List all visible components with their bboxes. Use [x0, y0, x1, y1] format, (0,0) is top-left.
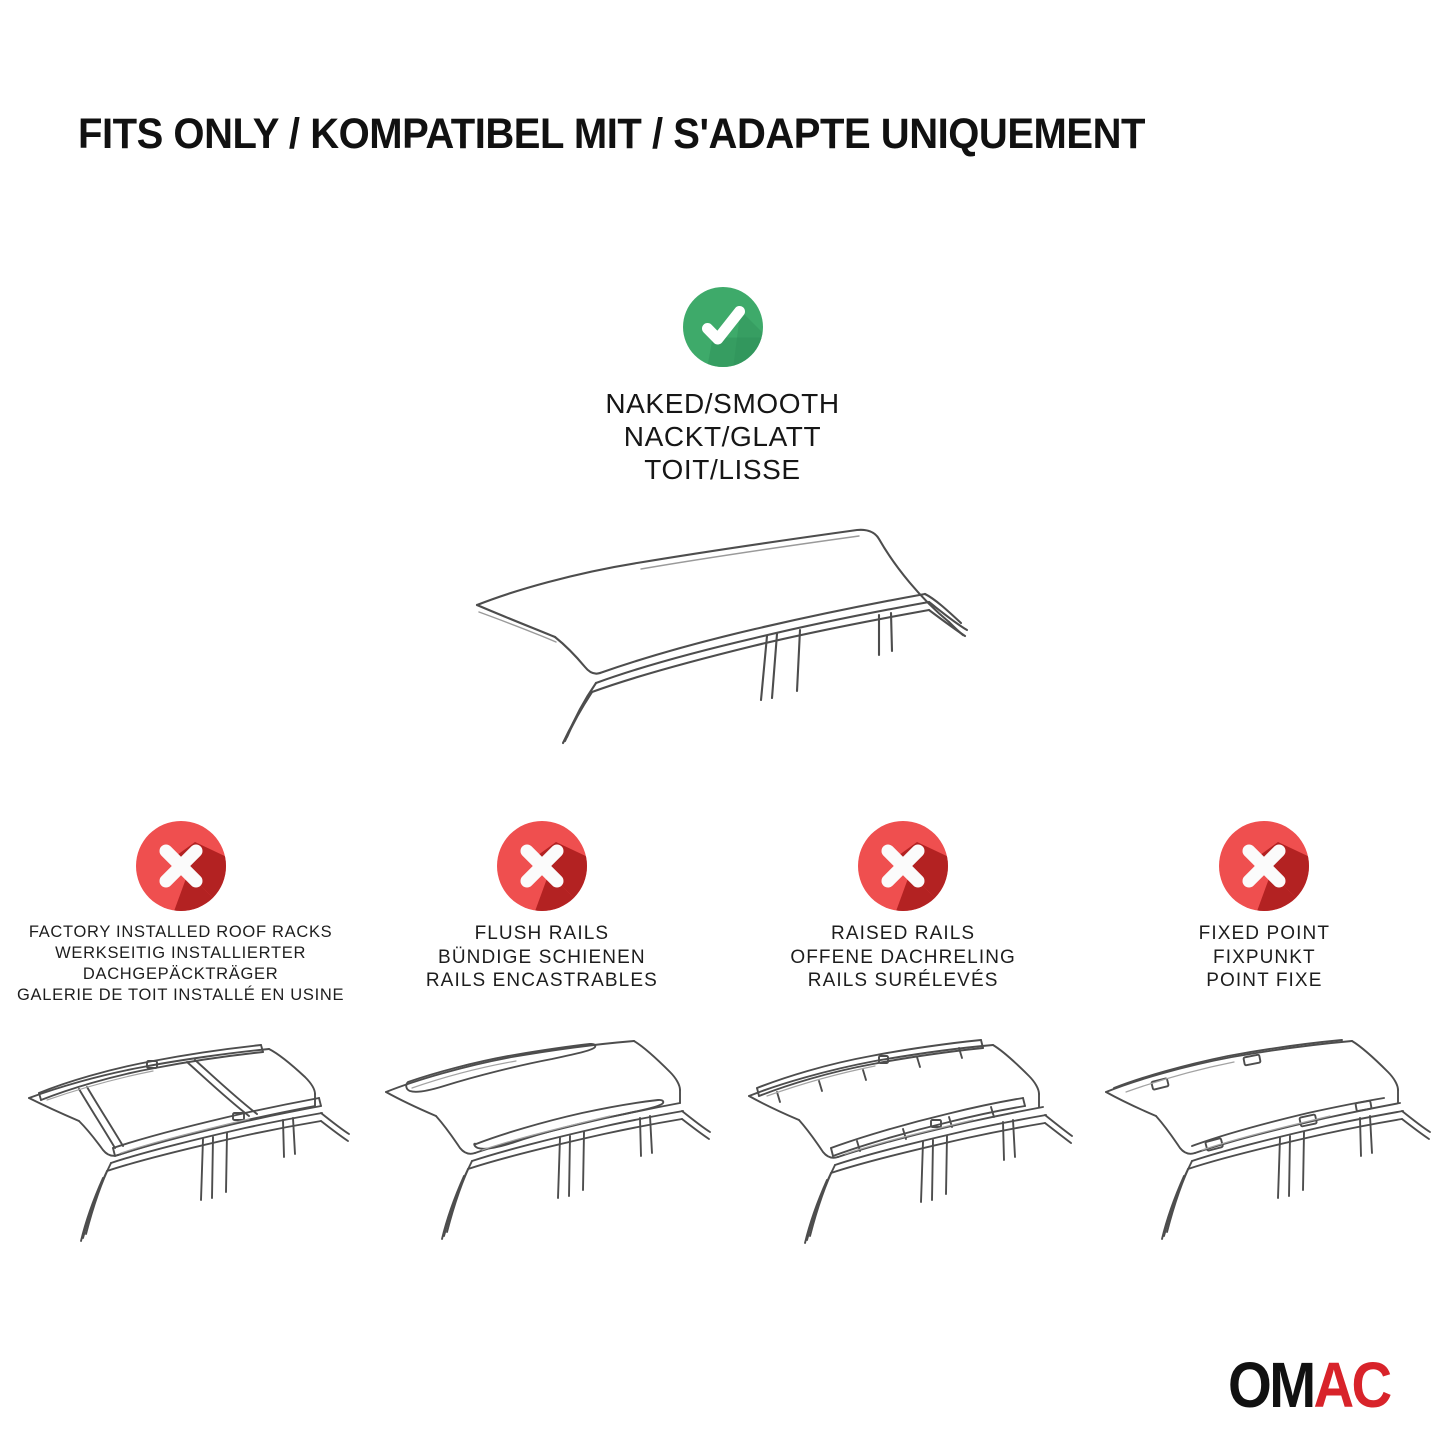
fixed-point-roof-illustration — [1084, 1020, 1445, 1260]
x-circle-icon — [494, 818, 590, 914]
incompatible-label-line-3: RAILS ENCASTRABLES — [426, 969, 658, 993]
x-circle-icon — [855, 818, 951, 914]
incompatible-label-line-1: RAISED RAILS — [790, 922, 1016, 946]
incompatible-caption: FLUSH RAILS BÜNDIGE SCHIENEN RAILS ENCAS… — [426, 922, 658, 993]
omac-logo-part-2: AC — [1314, 1349, 1390, 1421]
incompatible-label-line-2: WERKSEITIG INSTALLIERTER — [17, 943, 344, 964]
incompatible-label-line-2: OFFENE DACHRELING — [790, 946, 1016, 970]
incompatible-label-line-1: FACTORY INSTALLED ROOF RACKS — [17, 922, 344, 943]
omac-logo-part-1: OM — [1228, 1349, 1313, 1421]
x-circle-icon — [133, 818, 229, 914]
incompatible-label-line-3: POINT FIXE — [1199, 969, 1330, 993]
incompatible-label-line-3: DACHGEPÄCKTRÄGER — [17, 964, 344, 985]
compatible-label-line-2: NACKT/GLATT — [0, 420, 1445, 453]
roof-illustration-row — [0, 1020, 1445, 1260]
omac-logo: OMAC — [1228, 1353, 1390, 1417]
incompatible-label-line-2: FIXPUNKT — [1199, 946, 1330, 970]
check-circle-icon — [681, 285, 765, 369]
incompatible-caption: FACTORY INSTALLED ROOF RACKS WERKSEITIG … — [17, 922, 344, 1006]
raised-rails-roof-illustration — [723, 1020, 1084, 1260]
incompatible-caption: RAISED RAILS OFFENE DACHRELING RAILS SUR… — [790, 922, 1016, 993]
factory-rack-roof-illustration — [0, 1020, 361, 1260]
compatible-section: NAKED/SMOOTH NACKT/GLATT TOIT/LISSE — [0, 285, 1445, 486]
incompatible-label-line-1: FIXED POINT — [1199, 922, 1330, 946]
x-circle-icon — [1216, 818, 1312, 914]
incompatible-label-line-2: BÜNDIGE SCHIENEN — [426, 946, 658, 970]
incompatible-label-line-4: GALERIE DE TOIT INSTALLÉ EN USINE — [17, 985, 344, 1006]
compatible-label-line-1: NAKED/SMOOTH — [0, 387, 1445, 420]
incompatible-label-line-1: FLUSH RAILS — [426, 922, 658, 946]
page-title: FITS ONLY / KOMPATIBEL MIT / S'ADAPTE UN… — [78, 108, 1287, 160]
flush-rails-roof-illustration — [361, 1020, 722, 1260]
incompatible-label-line-3: RAILS SURÉLEVÉS — [790, 969, 1016, 993]
compatible-caption: NAKED/SMOOTH NACKT/GLATT TOIT/LISSE — [0, 387, 1445, 486]
smooth-roof-illustration — [455, 495, 1015, 745]
compatible-label-line-3: TOIT/LISSE — [0, 453, 1445, 486]
incompatible-caption: FIXED POINT FIXPUNKT POINT FIXE — [1199, 922, 1330, 993]
